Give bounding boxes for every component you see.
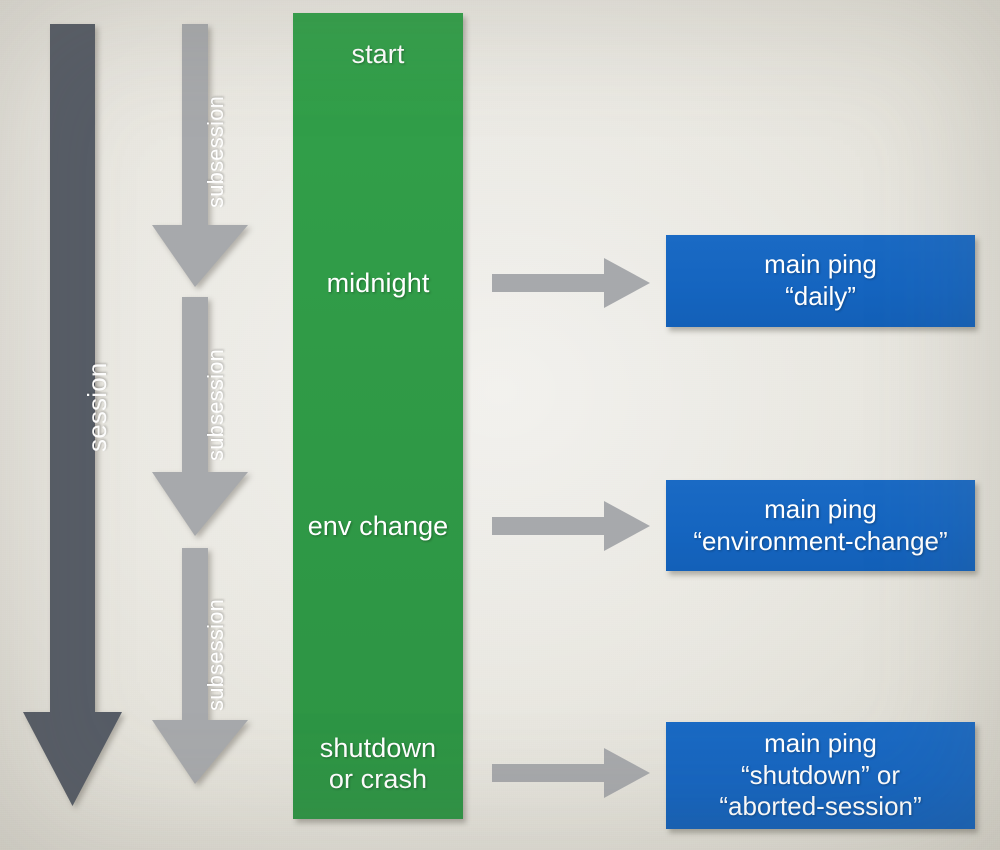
connector-arrow-1 — [490, 255, 655, 311]
timeline-event-shutdown-line-1: shutdown — [320, 733, 436, 763]
subsession-label-1: subsession — [203, 96, 229, 208]
down-arrow-icon — [140, 10, 260, 300]
subsession-arrow-3 — [140, 540, 260, 810]
ping-box-daily: main ping “daily” — [666, 235, 975, 327]
subsession-label-2: subsession — [203, 349, 229, 461]
timeline-event-midnight-line-1: midnight — [327, 268, 430, 298]
ping-box-shutdown-line-1: main ping — [764, 728, 877, 760]
right-arrow-icon — [490, 498, 655, 554]
timeline-event-env-change: env change — [293, 511, 463, 542]
right-arrow-icon — [490, 745, 655, 801]
timeline-event-start: start — [293, 39, 463, 70]
subsession-arrow-2 — [140, 290, 260, 550]
ping-box-shutdown: main ping “shutdown” or “aborted-session… — [666, 722, 975, 829]
ping-box-daily-line-1: main ping — [764, 249, 877, 281]
ping-box-environment-change-line-2: “environment-change” — [693, 526, 947, 558]
timeline-column: start midnight env change shutdown or cr… — [293, 13, 463, 819]
ping-box-environment-change: main ping “environment-change” — [666, 480, 975, 571]
down-arrow-icon — [140, 290, 260, 550]
ping-box-shutdown-line-2: “shutdown” or — [741, 760, 900, 792]
timeline-event-shutdown-line-2: or crash — [329, 764, 427, 794]
diagram-canvas: session subsession subsession subsession… — [0, 0, 1000, 850]
subsession-arrow-1 — [140, 10, 260, 300]
ping-box-shutdown-line-3: “aborted-session” — [719, 791, 921, 823]
ping-box-daily-line-2: “daily” — [785, 281, 856, 313]
right-arrow-icon — [490, 255, 655, 311]
down-arrow-icon — [140, 540, 260, 810]
timeline-event-shutdown: shutdown or crash — [293, 733, 463, 796]
timeline-event-start-line-1: start — [351, 39, 404, 69]
timeline-event-env-change-line-1: env change — [308, 511, 449, 541]
timeline-event-midnight: midnight — [293, 268, 463, 299]
session-label: session — [82, 362, 113, 452]
connector-arrow-3 — [490, 745, 655, 801]
ping-box-environment-change-line-1: main ping — [764, 494, 877, 526]
subsession-label-3: subsession — [203, 599, 229, 711]
connector-arrow-2 — [490, 498, 655, 554]
